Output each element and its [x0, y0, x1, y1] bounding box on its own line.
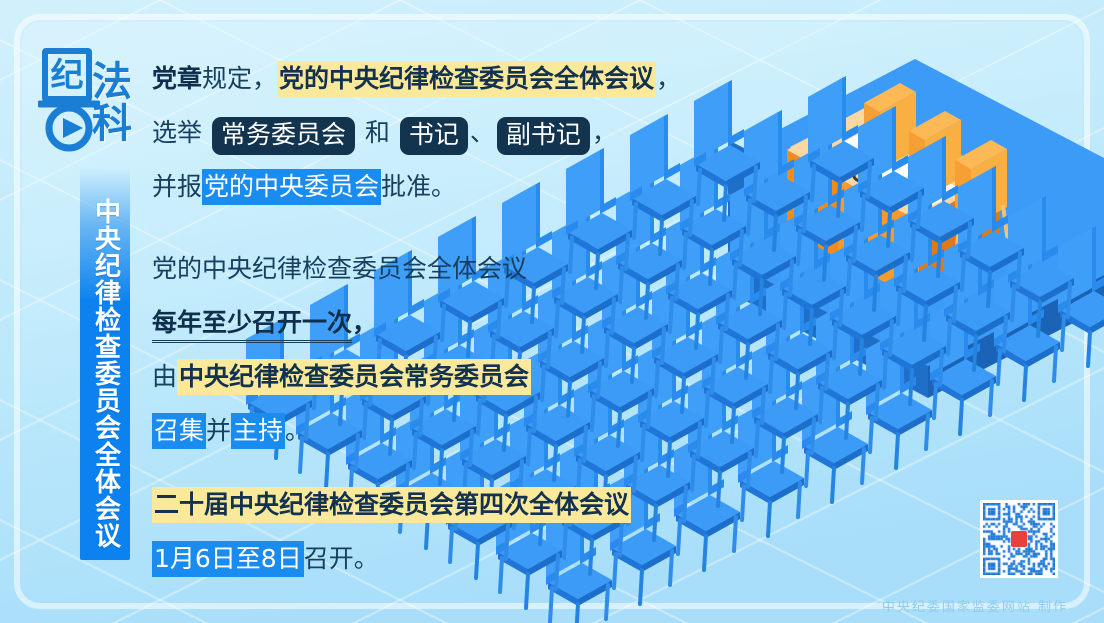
- chair-leg: [948, 320, 950, 354]
- chair-leg: [1062, 316, 1064, 350]
- chair-leg: [960, 400, 962, 434]
- chair-leg: [790, 261, 792, 295]
- chair-leg: [874, 276, 876, 310]
- chair-leg: [988, 272, 990, 306]
- p1-line2: 选举 常务委员会 和 书记、副书记，: [152, 106, 712, 160]
- chair-leg: [812, 166, 814, 200]
- p2-line2: 每年至少召开一次，: [152, 296, 712, 350]
- p3-l1-highlight: 二十届中央纪律检查委员会第四次全体会议: [152, 487, 631, 523]
- chair-leg: [890, 321, 892, 355]
- chair-leg: [782, 438, 784, 472]
- p2-l2-underlined: 每年至少召开一次: [152, 308, 352, 343]
- p2-l3-a: 由: [152, 362, 177, 391]
- chair-leg: [924, 306, 926, 340]
- vertical-title-banner: 中央纪律检查委员会全体会议: [80, 168, 130, 560]
- spacer: [152, 458, 712, 478]
- chair-leg: [974, 336, 976, 370]
- chair-leg: [796, 374, 798, 408]
- chair-leg: [734, 517, 736, 551]
- chair-leg: [940, 351, 942, 385]
- chair-leg: [846, 404, 848, 438]
- chair-part: [778, 110, 782, 172]
- chair-leg: [718, 472, 720, 506]
- chair-leg: [798, 483, 800, 517]
- chair-leg: [1004, 317, 1006, 351]
- chair-part: [842, 76, 846, 138]
- chair-leg: [1068, 283, 1070, 317]
- chair-leg: [784, 294, 786, 328]
- article-text: 党章规定，党的中央纪律检查委员会全体会议， 选举 常务委员会 和 书记、副书记，…: [152, 52, 712, 586]
- chair-part: [942, 136, 946, 198]
- p2-l2-b: ，: [352, 308, 377, 337]
- chair-part: [992, 166, 996, 228]
- p1-l3-c: 批准。: [381, 172, 456, 201]
- spacer: [152, 214, 712, 242]
- chair-leg: [884, 354, 886, 388]
- chair-leg: [810, 310, 812, 344]
- chair-leg: [998, 350, 1000, 384]
- p1-l2-a: 选举: [152, 118, 210, 147]
- chair-leg: [868, 163, 870, 197]
- brand-logo: 纪 法 科: [36, 46, 152, 164]
- chair-leg: [840, 291, 842, 325]
- qr-code[interactable]: [980, 500, 1058, 578]
- footer-credit: 中央纪委国家监委网站 制作: [882, 596, 1068, 615]
- chair-leg: [860, 340, 862, 374]
- p2-l4-b: 并: [206, 416, 231, 445]
- chair-leg: [720, 328, 722, 362]
- chair-leg: [712, 359, 714, 393]
- chair-leg: [770, 358, 772, 392]
- p1-l2-b: 和: [357, 118, 398, 147]
- chair-leg: [1038, 302, 1040, 336]
- chair-leg: [826, 355, 828, 389]
- chair-leg: [740, 231, 742, 265]
- chair-leg: [734, 264, 736, 298]
- chair-leg: [862, 449, 864, 483]
- chair-leg: [870, 418, 872, 452]
- chair-leg: [550, 588, 552, 622]
- chair-leg: [1018, 253, 1020, 287]
- p2-line4: 召集并主持。: [152, 404, 712, 458]
- chair-leg: [726, 295, 728, 329]
- logo-char-ke: 科: [92, 104, 132, 144]
- chair-leg: [1088, 332, 1090, 366]
- chair-leg: [798, 230, 800, 264]
- chair-leg: [896, 434, 898, 468]
- chair-leg: [812, 419, 814, 453]
- chair-part: [728, 80, 732, 142]
- p1-l1-a: 党章: [152, 64, 202, 93]
- chair-leg: [926, 415, 928, 449]
- chair-leg: [804, 197, 806, 231]
- chair-leg: [938, 242, 940, 276]
- chair-leg: [934, 384, 936, 418]
- chair-leg: [1024, 366, 1026, 400]
- chair-leg: [756, 422, 758, 456]
- chair-part: [892, 106, 896, 168]
- chair-leg: [918, 193, 920, 227]
- chair-part: [1092, 226, 1096, 288]
- chair-leg: [760, 280, 762, 314]
- chair-part: [1042, 196, 1046, 258]
- chair-leg: [962, 256, 964, 290]
- p1-l3-highlight: 党的中央委员会: [202, 169, 381, 205]
- p2-l4-d: 。: [285, 416, 310, 445]
- chair-leg: [746, 344, 748, 378]
- chair-leg: [898, 290, 900, 324]
- p1-l3-a: 并报: [152, 172, 202, 201]
- chair-leg: [820, 388, 822, 422]
- p2-l4-highlight-a: 召集: [152, 413, 206, 449]
- chair-leg: [824, 246, 826, 280]
- p1-l1-d: ，: [656, 64, 681, 93]
- chair-leg: [954, 287, 956, 321]
- logo-char-bai-play-icon: [38, 90, 100, 152]
- chair-leg: [862, 196, 864, 230]
- chair-leg: [876, 385, 878, 419]
- logo-char-fa: 法: [92, 62, 132, 102]
- p2-l4-highlight-b: 主持: [231, 413, 285, 449]
- vertical-title-text: 中央纪律检查委员会全体会议: [91, 198, 120, 549]
- chair-leg: [968, 223, 970, 257]
- p1-l2-d: ，: [592, 118, 617, 147]
- p3-line1: 二十届中央纪律检查委员会第四次全体会议: [152, 478, 712, 532]
- p2-line3: 由中央纪律检查委员会常务委员会: [152, 350, 712, 404]
- p1-line1: 党章规定，党的中央纪律检查委员会全体会议，: [152, 52, 712, 106]
- p3-l2-b: 召开。: [304, 544, 379, 573]
- badge-secretary: 书记: [400, 117, 468, 155]
- chair-leg: [1054, 347, 1056, 381]
- chair-leg: [774, 216, 776, 250]
- p1-l1-highlight: 党的中央纪律检查委员会全体会议: [277, 61, 656, 97]
- p3-l2-highlight: 1月6日至8日: [152, 541, 304, 577]
- chair-leg: [838, 182, 840, 216]
- chair-leg: [776, 325, 778, 359]
- chair-leg: [848, 260, 850, 294]
- chair-leg: [742, 486, 744, 520]
- p1-line3: 并报党的中央委员会批准。: [152, 160, 712, 214]
- chair-leg: [748, 453, 750, 487]
- chair-leg: [768, 502, 770, 536]
- chair-leg: [576, 604, 578, 623]
- chair-leg: [732, 408, 734, 442]
- p1-l2-c: 、: [470, 118, 495, 147]
- chair-leg: [904, 257, 906, 291]
- p2-l3-highlight: 中央纪律检查委员会常务委员会: [177, 359, 531, 395]
- chair-leg: [888, 212, 890, 246]
- chair-leg: [854, 227, 856, 261]
- badge-standing-committee: 常务委员会: [212, 117, 355, 155]
- chair-leg: [990, 381, 992, 415]
- chair-leg: [1012, 286, 1014, 320]
- chair-leg: [748, 200, 750, 234]
- badge-deputy-secretary: 副书记: [497, 117, 590, 155]
- p1-l1-b: 规定，: [202, 64, 277, 93]
- chair-leg: [832, 468, 834, 502]
- chair-leg: [762, 389, 764, 423]
- chair-leg: [834, 324, 836, 358]
- chair-leg: [806, 452, 808, 486]
- chair-leg: [910, 370, 912, 404]
- red-emblem-icon: [1011, 531, 1027, 547]
- p2-line1: 党的中央纪律检查委员会全体会议: [152, 242, 712, 296]
- p3-line2: 1月6日至8日召开。: [152, 532, 712, 586]
- chair-leg: [724, 186, 726, 220]
- chair-leg: [912, 226, 914, 260]
- chair-leg: [754, 167, 756, 201]
- chair-leg: [606, 585, 608, 619]
